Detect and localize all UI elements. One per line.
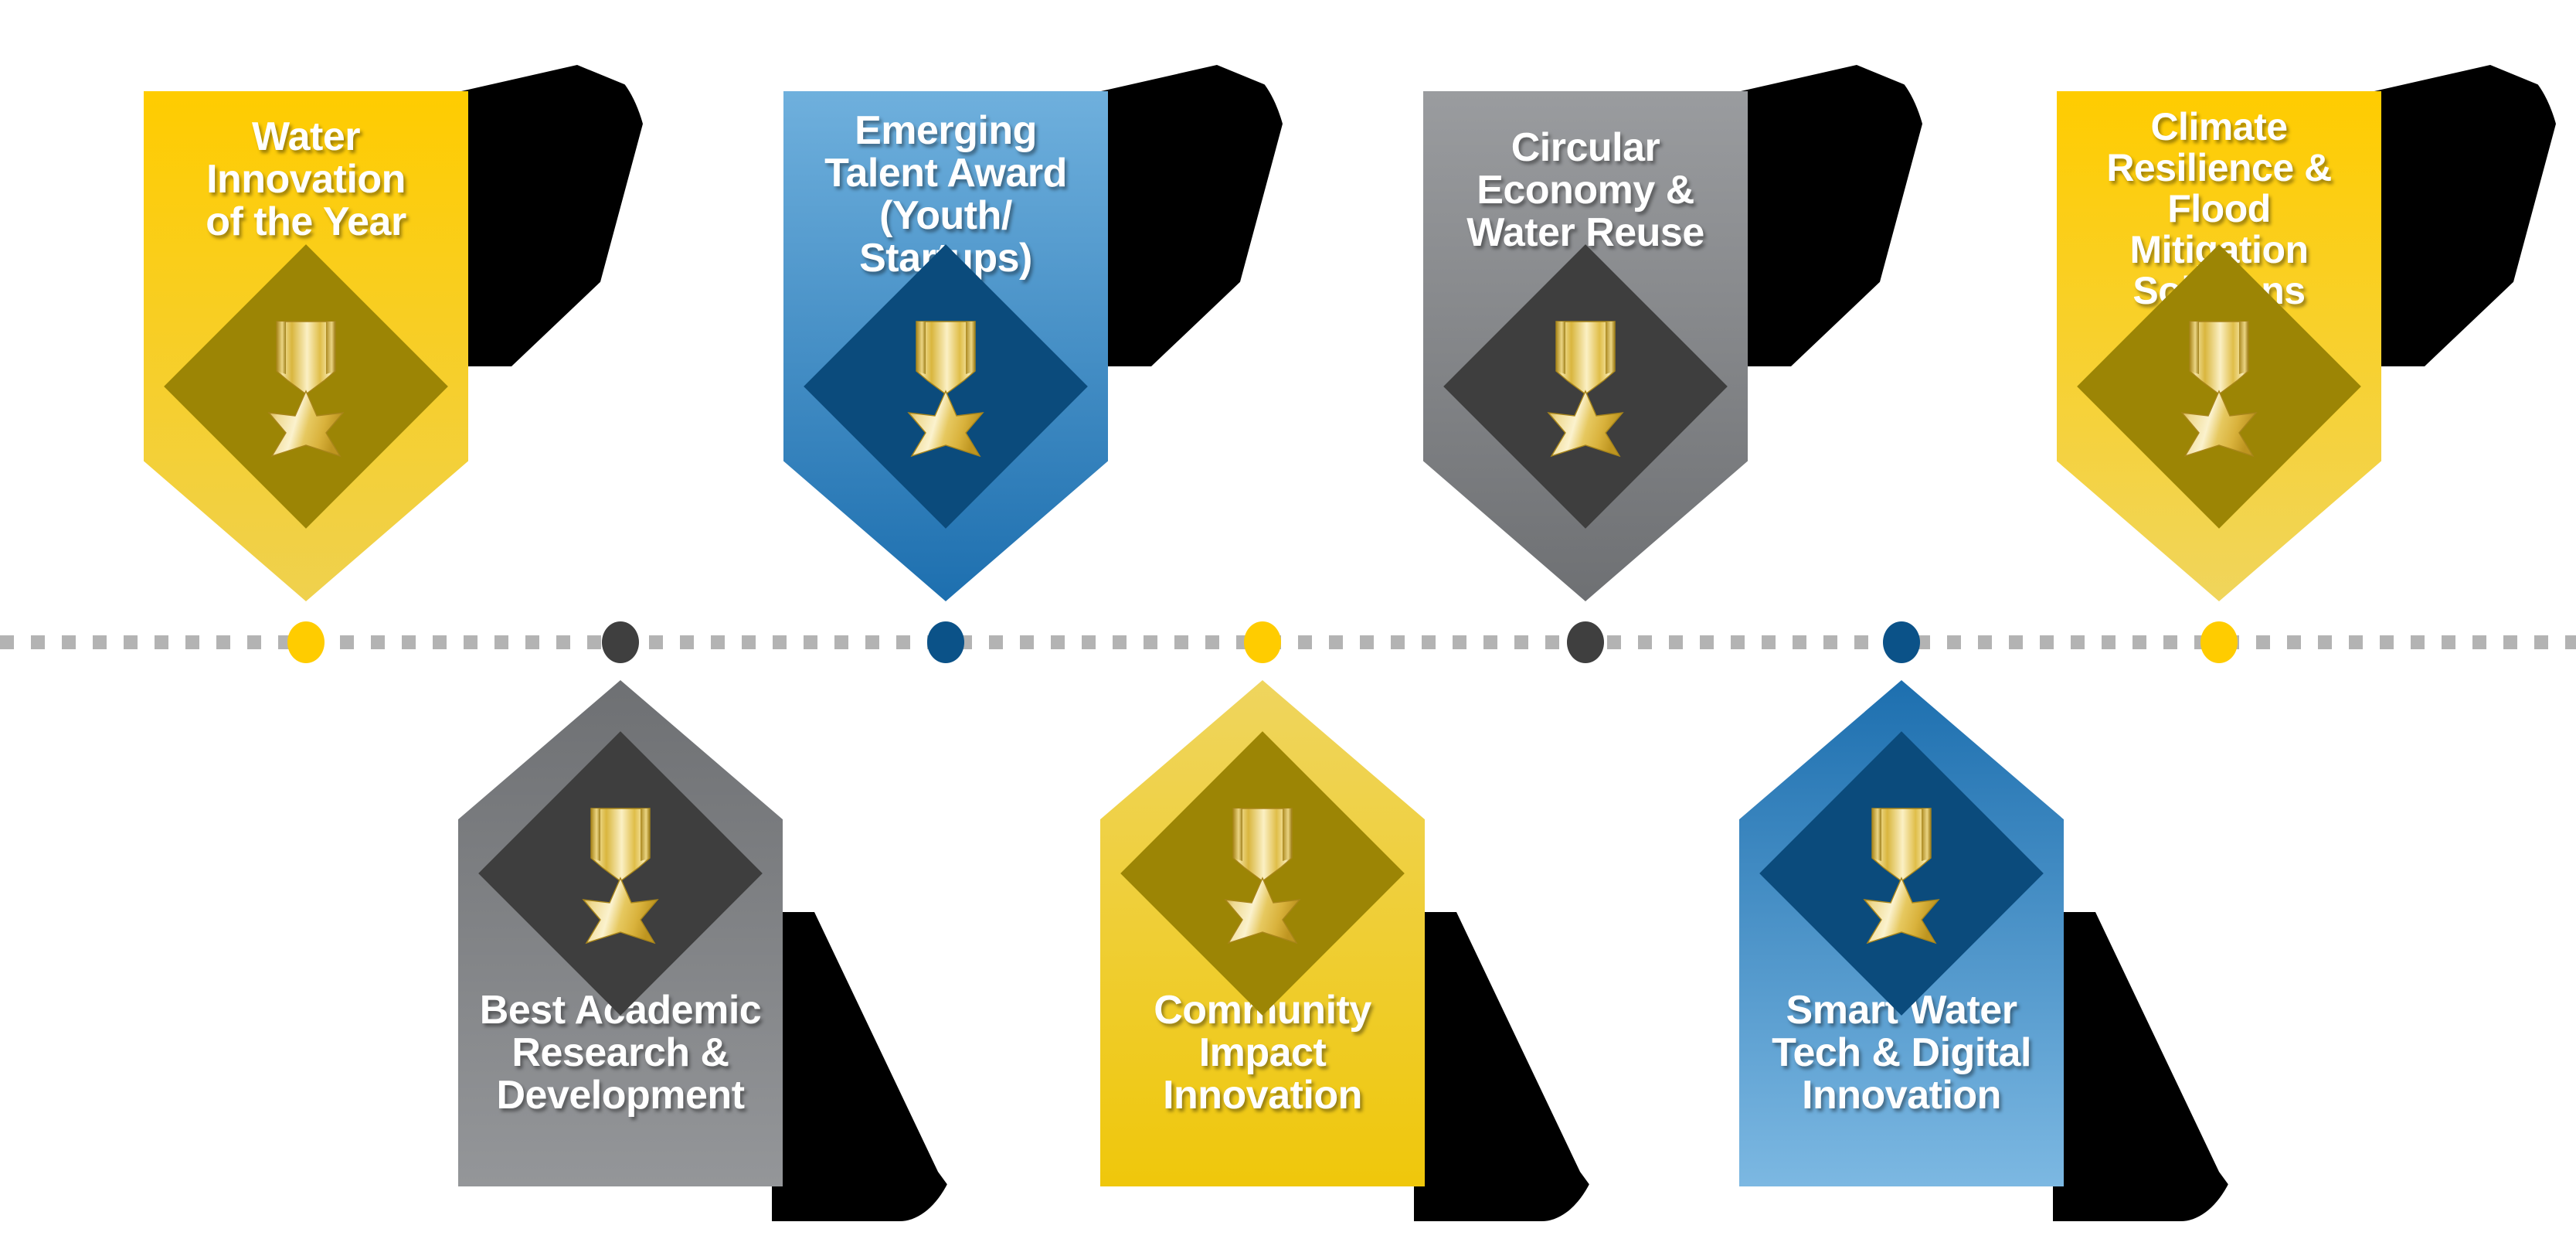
banner-shadow-wedge	[2370, 65, 2564, 366]
medal-icon	[260, 317, 352, 464]
award-banner-water-innovation-of-the-year[interactable]: Water Innovation of the Year	[144, 91, 468, 601]
medal-icon	[574, 804, 667, 951]
banner-shadow-wedge	[457, 65, 651, 366]
award-title: Circular Economy & Water Reuse	[1423, 91, 1748, 254]
timeline-dot[interactable]	[602, 621, 639, 663]
award-title: Water Innovation of the Year	[144, 91, 468, 243]
medal-icon	[1855, 804, 1948, 951]
banner-shadow-wedge	[1737, 65, 1930, 366]
banner-shadow-wedge	[1414, 912, 1607, 1221]
timeline-dot[interactable]	[2200, 621, 2238, 663]
timeline-dot[interactable]	[1244, 621, 1281, 663]
medal-icon	[2173, 317, 2265, 464]
award-banner-emerging-talent-award[interactable]: Emerging Talent Award (Youth/ Startups)	[783, 91, 1108, 601]
timeline-dot[interactable]	[1567, 621, 1604, 663]
award-banner-climate-resilience-flood-mitigation[interactable]: Climate Resilience & Flood Mitigation So…	[2057, 91, 2381, 601]
award-banner-community-impact-innovation[interactable]: Community Impact Innovation	[1100, 680, 1425, 1186]
medal-icon	[260, 317, 352, 464]
medal-icon	[1216, 804, 1309, 951]
timeline-track	[0, 635, 2576, 649]
medal-icon	[574, 804, 667, 951]
award-title: Community Impact Innovation	[1100, 989, 1425, 1186]
award-title: Best Academic Research & Development	[458, 989, 783, 1186]
medal-icon	[1216, 804, 1309, 951]
medal-icon	[1855, 804, 1948, 951]
medal-icon	[1539, 317, 1632, 464]
banner-shadow-wedge	[772, 912, 965, 1221]
medal-icon	[899, 317, 992, 464]
infographic-canvas: Water Innovation of the Year	[0, 0, 2576, 1256]
medal-icon	[899, 317, 992, 464]
award-banner-circular-economy-water-reuse[interactable]: Circular Economy & Water Reuse	[1423, 91, 1748, 601]
banner-shadow-wedge	[2053, 912, 2246, 1221]
timeline-dot[interactable]	[1883, 621, 1920, 663]
award-title: Smart Water Tech & Digital Innovation	[1739, 989, 2064, 1186]
timeline-dot[interactable]	[287, 621, 325, 663]
medal-icon	[2173, 317, 2265, 464]
medal-icon	[1539, 317, 1632, 464]
timeline-dot[interactable]	[927, 621, 964, 663]
banner-shadow-wedge	[1097, 65, 1290, 366]
award-banner-best-academic-research-development[interactable]: Best Academic Research & Development	[458, 680, 783, 1186]
award-banner-smart-water-tech-digital-innovation[interactable]: Smart Water Tech & Digital Innovation	[1739, 680, 2064, 1186]
